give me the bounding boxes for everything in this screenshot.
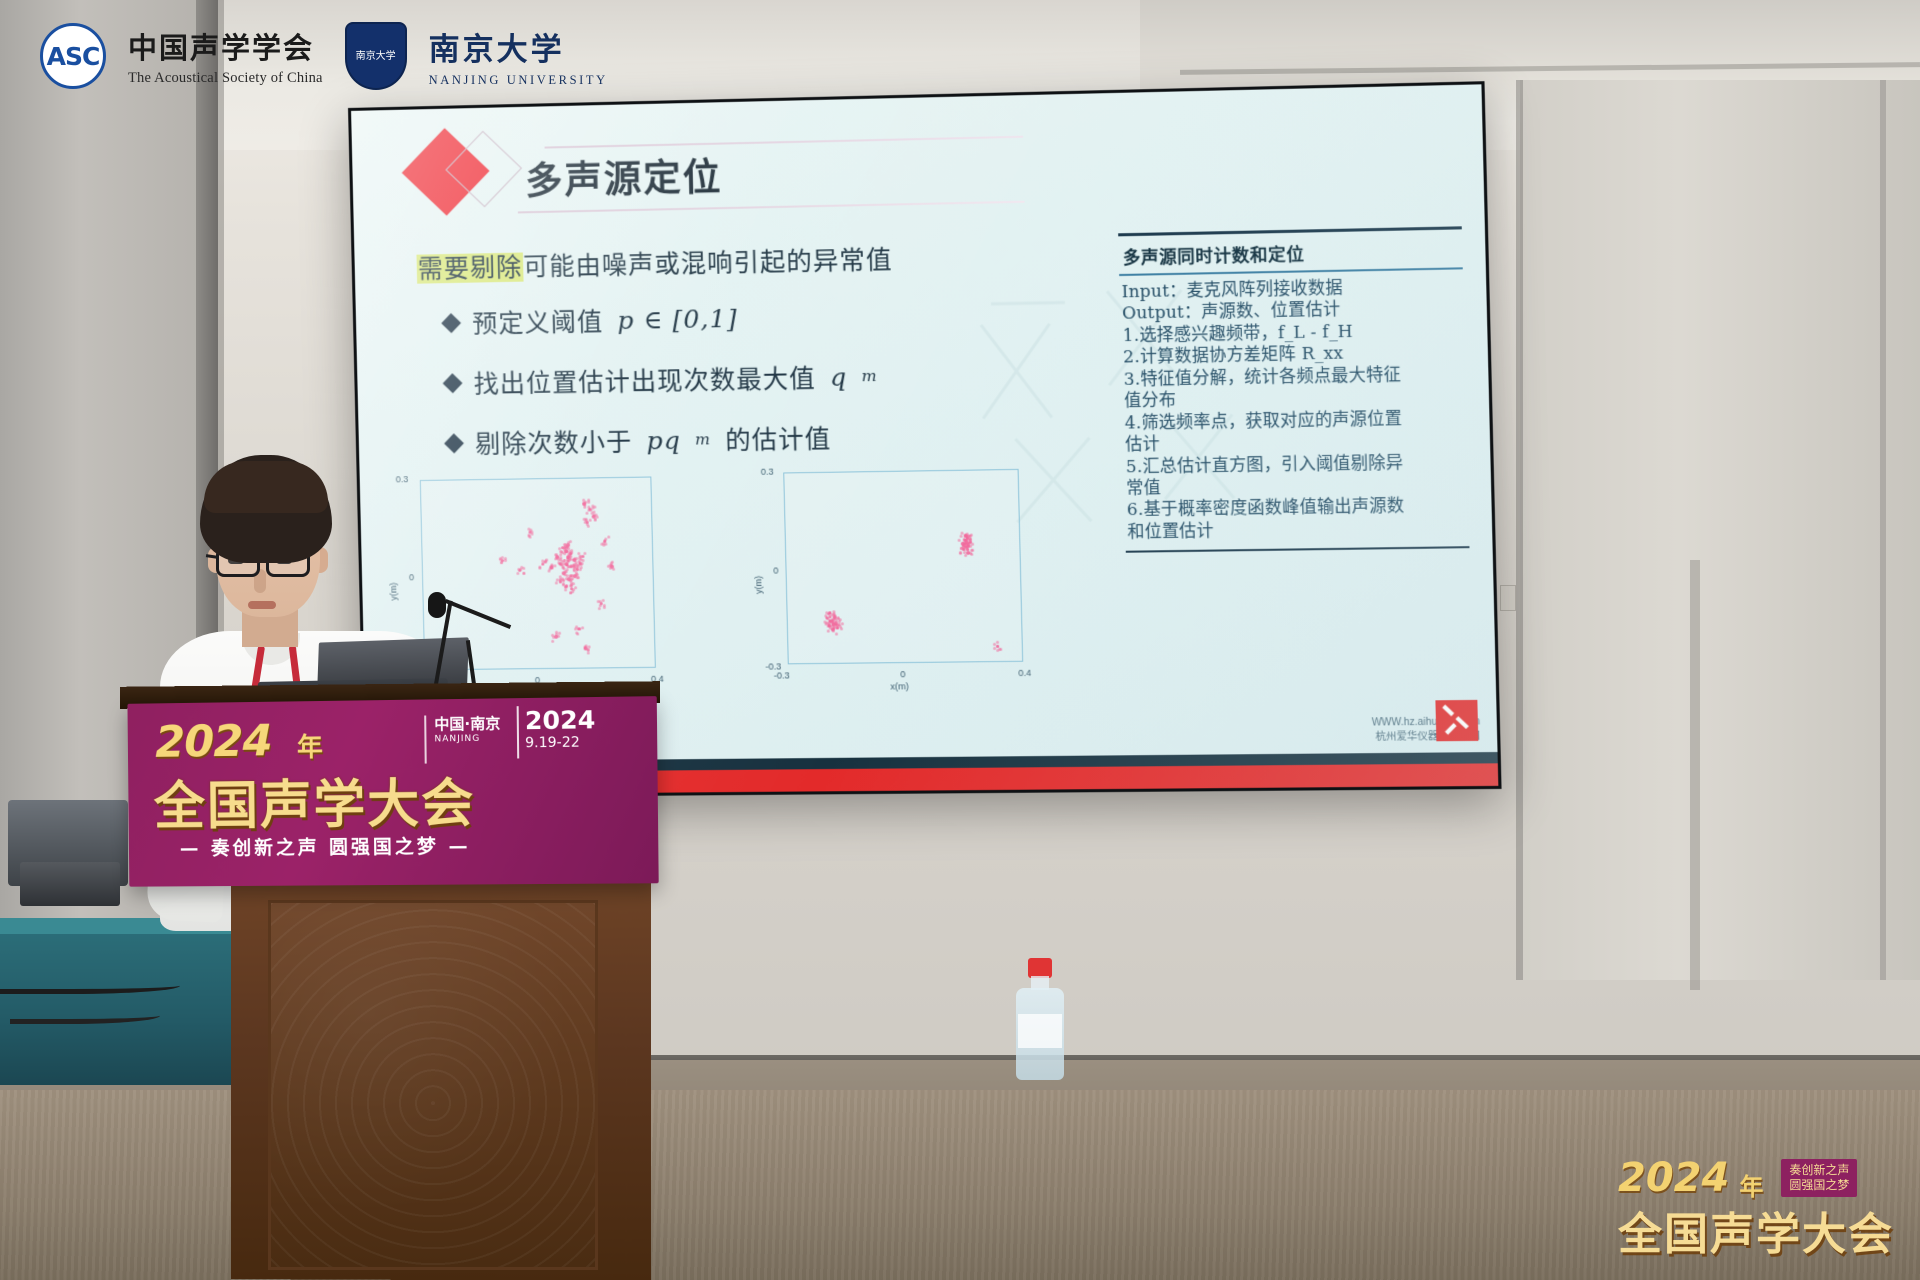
data-point: [504, 557, 507, 560]
data-point: [570, 585, 573, 588]
data-point: [826, 629, 829, 632]
podium-banner-year-suffix: 年: [297, 727, 323, 764]
data-point: [500, 561, 503, 564]
data-point: [602, 544, 605, 547]
data-point: [830, 613, 833, 616]
event-watermark: 2024 年 奏创新之声 圆强国之梦 全国声学大会: [1618, 1155, 1894, 1262]
algorithm-box: 多声源同时计数和定位 Input：麦克风阵列接收数据Output：声源数、位置估…: [1118, 226, 1469, 553]
plot-1-ytick-max: 0.3: [761, 467, 774, 477]
plot-1-ylabel: y(m): [753, 576, 764, 594]
data-point: [828, 627, 831, 630]
watermark-main-title: 全国声学大会: [1618, 1198, 1894, 1262]
podium-banner-divider-2: [517, 706, 520, 758]
data-point: [607, 536, 610, 539]
bullet-3-math: pq: [646, 425, 681, 455]
data-point: [531, 533, 534, 536]
data-point: [569, 540, 572, 543]
watermark-top-row: 2024 年 奏创新之声 圆强国之梦: [1618, 1155, 1894, 1202]
plot-1-ytick-mid: 0: [773, 565, 778, 575]
data-point: [549, 567, 552, 570]
bullet-3-text-after: 的估计值: [725, 419, 832, 457]
data-point: [565, 546, 568, 549]
podium-banner-date-year: 2024: [525, 705, 596, 735]
podium-banner-divider-1: [424, 715, 427, 763]
podium-front-panel: [268, 900, 598, 1270]
data-point: [517, 572, 520, 575]
algorithm-steps: Input：麦克风阵列接收数据Output：声源数、位置估计1.选择感兴趣频带，…: [1119, 269, 1469, 547]
data-point: [564, 573, 567, 576]
plot-1-xtick-min: -0.3: [774, 670, 790, 680]
data-point: [578, 627, 581, 630]
mouth: [248, 601, 276, 609]
title-rule-top: [545, 136, 1023, 149]
data-point: [587, 501, 590, 504]
plot-1-xtick-mid: 0: [900, 669, 905, 679]
data-point: [522, 567, 525, 570]
conference-photo-scene: 多声源定位 需要剔除可能由噪声或混响引起的异常值 预定义阈值 p ∈ [0,1]…: [0, 0, 1920, 1280]
side-table: [0, 925, 250, 1085]
microphone-head: [428, 592, 446, 618]
podium-banner-city-cn: 中国·南京: [434, 714, 500, 733]
data-point: [604, 538, 607, 541]
wall-outlet: [1500, 585, 1516, 611]
data-point: [962, 539, 965, 542]
slide-lead-line: 需要剔除可能由噪声或混响引起的异常值: [416, 240, 893, 286]
bullet-diamond-icon: [444, 433, 464, 453]
data-point: [565, 585, 568, 588]
watermark-year: 2024: [1618, 1155, 1729, 1201]
data-point: [582, 559, 585, 562]
data-point: [577, 632, 580, 635]
bullet-diamond-icon: [441, 313, 461, 333]
data-point: [587, 525, 590, 528]
scatter-plot-after: [783, 469, 1023, 664]
bottle-label: [1018, 1014, 1062, 1048]
top-left-logos: ASC 中国声学学会 The Acoustical Society of Chi…: [40, 22, 608, 90]
bullet-3-text: 剔除次数小于: [475, 422, 633, 461]
asc-name-cn: 中国声学学会: [128, 25, 323, 67]
data-point: [582, 498, 585, 501]
door-frame: [1690, 560, 1700, 990]
data-point: [609, 564, 612, 567]
lead-rest: 可能由噪声或混响引起的异常值: [523, 245, 893, 282]
data-point: [581, 627, 584, 630]
wall-seam-right-2: [1880, 80, 1886, 980]
podium-banner-date-range: 9.19-22: [525, 734, 596, 751]
data-point: [601, 599, 604, 602]
data-point: [561, 577, 564, 580]
data-point: [593, 510, 596, 513]
data-point: [554, 557, 557, 560]
data-point: [551, 639, 554, 642]
watermark-slogan-badge: 奏创新之声 圆强国之梦: [1781, 1159, 1857, 1197]
data-point: [835, 632, 838, 635]
data-point: [559, 553, 562, 556]
data-point: [592, 504, 595, 507]
data-point: [602, 604, 605, 607]
data-point: [584, 551, 587, 554]
asc-logo-icon: ASC: [40, 23, 106, 89]
data-point: [836, 626, 839, 629]
podium-banner: 2024 年 中国·南京 NANJING 2024 9.19-22 全国声学大会…: [127, 696, 658, 887]
podium-banner-subtitle: — 奏创新之声 圆强国之梦 —: [180, 831, 471, 860]
podium-banner-city-en: NANJING: [434, 734, 500, 745]
water-bottle: [1012, 958, 1068, 1078]
data-point: [553, 565, 556, 568]
data-point: [576, 577, 579, 580]
data-point: [556, 578, 559, 581]
data-point: [539, 567, 542, 570]
data-point: [959, 552, 962, 555]
podium-banner-year: 2024: [155, 716, 272, 768]
bullet-2-text: 找出位置估计出现次数最大值: [473, 359, 816, 401]
slide-title-row: 多声源定位: [403, 107, 1304, 224]
nju-name-en: NANJING UNIVERSITY: [429, 73, 608, 88]
data-point: [570, 578, 573, 581]
data-point: [958, 539, 961, 542]
podium-banner-city: 中国·南京 NANJING: [434, 712, 500, 744]
data-point: [578, 557, 581, 560]
wall-panel-right: [1520, 80, 1920, 980]
algorithm-line: 和位置估计: [1127, 516, 1469, 543]
data-point: [584, 518, 587, 521]
av-equipment-case-2: [20, 862, 120, 906]
data-point: [582, 502, 585, 505]
data-point: [585, 511, 588, 514]
slide-bullet-1: 预定义阈值 p ∈ [0,1]: [444, 300, 738, 342]
data-point: [565, 588, 568, 591]
data-point: [587, 648, 590, 651]
data-point: [569, 591, 572, 594]
data-point: [557, 558, 560, 561]
data-point: [971, 543, 974, 546]
bullet-1-math: p ∈ [0,1]: [617, 303, 738, 334]
slide-bullet-2: 找出位置估计出现次数最大值 qm: [445, 358, 878, 402]
slide-title: 多声源定位: [525, 147, 723, 206]
data-point: [589, 519, 592, 522]
data-point: [557, 635, 560, 638]
data-point: [594, 518, 597, 521]
plot-1-xlabel: x(m): [890, 681, 909, 691]
podium-banner-main-title: 全国声学大会: [153, 761, 475, 839]
nju-logo-text: 南京大学 NANJING UNIVERSITY: [429, 24, 608, 88]
presenter-hair-fringe: [204, 461, 328, 513]
data-point: [996, 645, 999, 648]
plot-1-xtick-max: 0.4: [1018, 668, 1031, 678]
data-point: [964, 554, 967, 557]
data-point: [570, 574, 573, 577]
plot-1-canvas: [784, 470, 1022, 663]
bullet-1-text: 预定义阈值: [472, 302, 604, 341]
data-point: [612, 567, 615, 570]
bullet-2-math: q: [830, 362, 848, 392]
watermark-slogan-line-2: 圆强国之梦: [1789, 1178, 1849, 1193]
bullet-2-math-sub: m: [861, 367, 877, 385]
watermark-slogan-line-1: 奏创新之声: [1789, 1163, 1849, 1178]
aihua-logo-icon: [1435, 700, 1478, 741]
watermark-year-suffix: 年: [1739, 1167, 1763, 1202]
data-point: [522, 572, 525, 575]
bottle-cap: [1028, 958, 1052, 978]
podium-banner-date: 2024 9.19-22: [525, 705, 596, 751]
bullet-3-math-sub: m: [695, 430, 711, 448]
data-point: [833, 614, 836, 617]
lead-highlight: 需要剔除: [416, 252, 523, 283]
asc-name-en: The Acoustical Society of China: [128, 70, 323, 87]
nju-name-cn: 南京大学: [429, 24, 608, 69]
data-point: [592, 513, 595, 516]
data-point: [840, 627, 843, 630]
wall-seam-right-1: [1516, 80, 1523, 980]
nju-shield-icon: 南京大学: [345, 22, 407, 90]
asc-logo-text: 中国声学学会 The Acoustical Society of China: [128, 25, 323, 87]
slide-bullet-3: 剔除次数小于 pqm 的估计值: [447, 419, 832, 461]
data-point: [555, 553, 558, 556]
data-point: [597, 607, 600, 610]
bullet-diamond-icon: [443, 373, 463, 393]
data-point: [587, 651, 590, 654]
data-point: [558, 631, 561, 634]
data-point: [568, 554, 571, 557]
